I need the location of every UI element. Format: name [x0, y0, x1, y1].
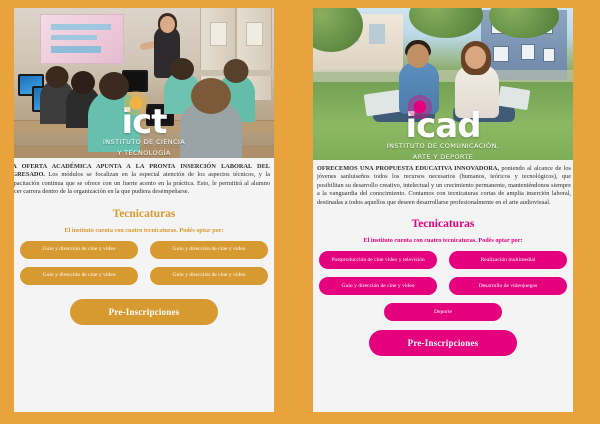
- ict-description: LA OFERTA ACADÉMICA APUNTA A LA PRONTA I…: [14, 158, 274, 197]
- icad-cta-wrap: Pre-Inscripciones: [313, 330, 573, 356]
- icad-description: OFRECEMOS UNA PROPUESTA EDUCATIVA INNOVA…: [317, 160, 573, 207]
- icad-description-lead: OFRECEMOS UNA PROPUESTA EDUCATIVA INNOVA…: [317, 165, 499, 172]
- student-male-head: [407, 44, 429, 68]
- student-3: [88, 90, 140, 152]
- tree-2: [409, 8, 483, 38]
- icad-program-button-deporte[interactable]: Deporte: [384, 303, 502, 321]
- ict-description-rest: Los módulos se focalizan en la especial …: [14, 171, 270, 195]
- ict-program-buttons: Guio y dirección de cine y video Guio y …: [14, 241, 274, 285]
- projection-screen: [40, 14, 124, 64]
- grass: [313, 82, 573, 160]
- park-photo: [313, 8, 573, 160]
- poster-page: ict INSTITUTO DE CIENCIA Y TECNOLOGÍA LA…: [0, 0, 600, 424]
- panel-icad: icad INSTITUTO DE COMUNICACIÓN, ARTE Y D…: [313, 8, 573, 412]
- icad-preinscripciones-button[interactable]: Pre-Inscripciones: [369, 330, 517, 356]
- icad-program-button-2[interactable]: Realización multimedial: [449, 251, 567, 269]
- icad-program-button-4[interactable]: Desarrollo de videojuegos: [449, 277, 567, 295]
- icad-program-buttons: Postproducción de cine video y televisió…: [313, 251, 573, 295]
- ict-program-button-2[interactable]: Guio y dirección de cine y video: [150, 241, 268, 259]
- hero-image-park: icad INSTITUTO DE COMUNICACIÓN, ARTE Y D…: [313, 8, 573, 160]
- teacher-head: [160, 16, 175, 33]
- icad-program-button-3[interactable]: Guio y dirección de cine y video: [319, 277, 437, 295]
- student-6: [180, 100, 242, 158]
- ict-section-title: Tecnicaturas: [14, 208, 274, 220]
- icad-sub-line: El instituto cuenta con cuatro tecnicatu…: [313, 237, 573, 244]
- ict-sub-line: El instituto cuenta con cuatro tecnicatu…: [14, 227, 274, 234]
- ict-preinscripciones-button[interactable]: Pre-Inscripciones: [70, 299, 218, 325]
- student-female-head: [465, 46, 486, 69]
- panel-ict: ict INSTITUTO DE CIENCIA Y TECNOLOGÍA LA…: [14, 8, 274, 412]
- icad-deporte-wrap: Deporte: [313, 303, 573, 321]
- ict-program-button-1[interactable]: Guio y dirección de cine y video: [20, 241, 138, 259]
- hero-image-classroom: ict INSTITUTO DE CIENCIA Y TECNOLOGÍA: [14, 8, 274, 158]
- student-male-shirt: [399, 62, 439, 114]
- icad-program-button-1[interactable]: Postproducción de cine video y televisió…: [319, 251, 437, 269]
- icad-section-title: Tecnicaturas: [313, 218, 573, 230]
- ict-cta-wrap: Pre-Inscripciones: [14, 299, 274, 325]
- classroom-photo: [14, 8, 274, 158]
- ict-program-button-4[interactable]: Guio y dirección de cine y video: [150, 267, 268, 285]
- ict-program-button-3[interactable]: Guio y dirección de cine y video: [20, 267, 138, 285]
